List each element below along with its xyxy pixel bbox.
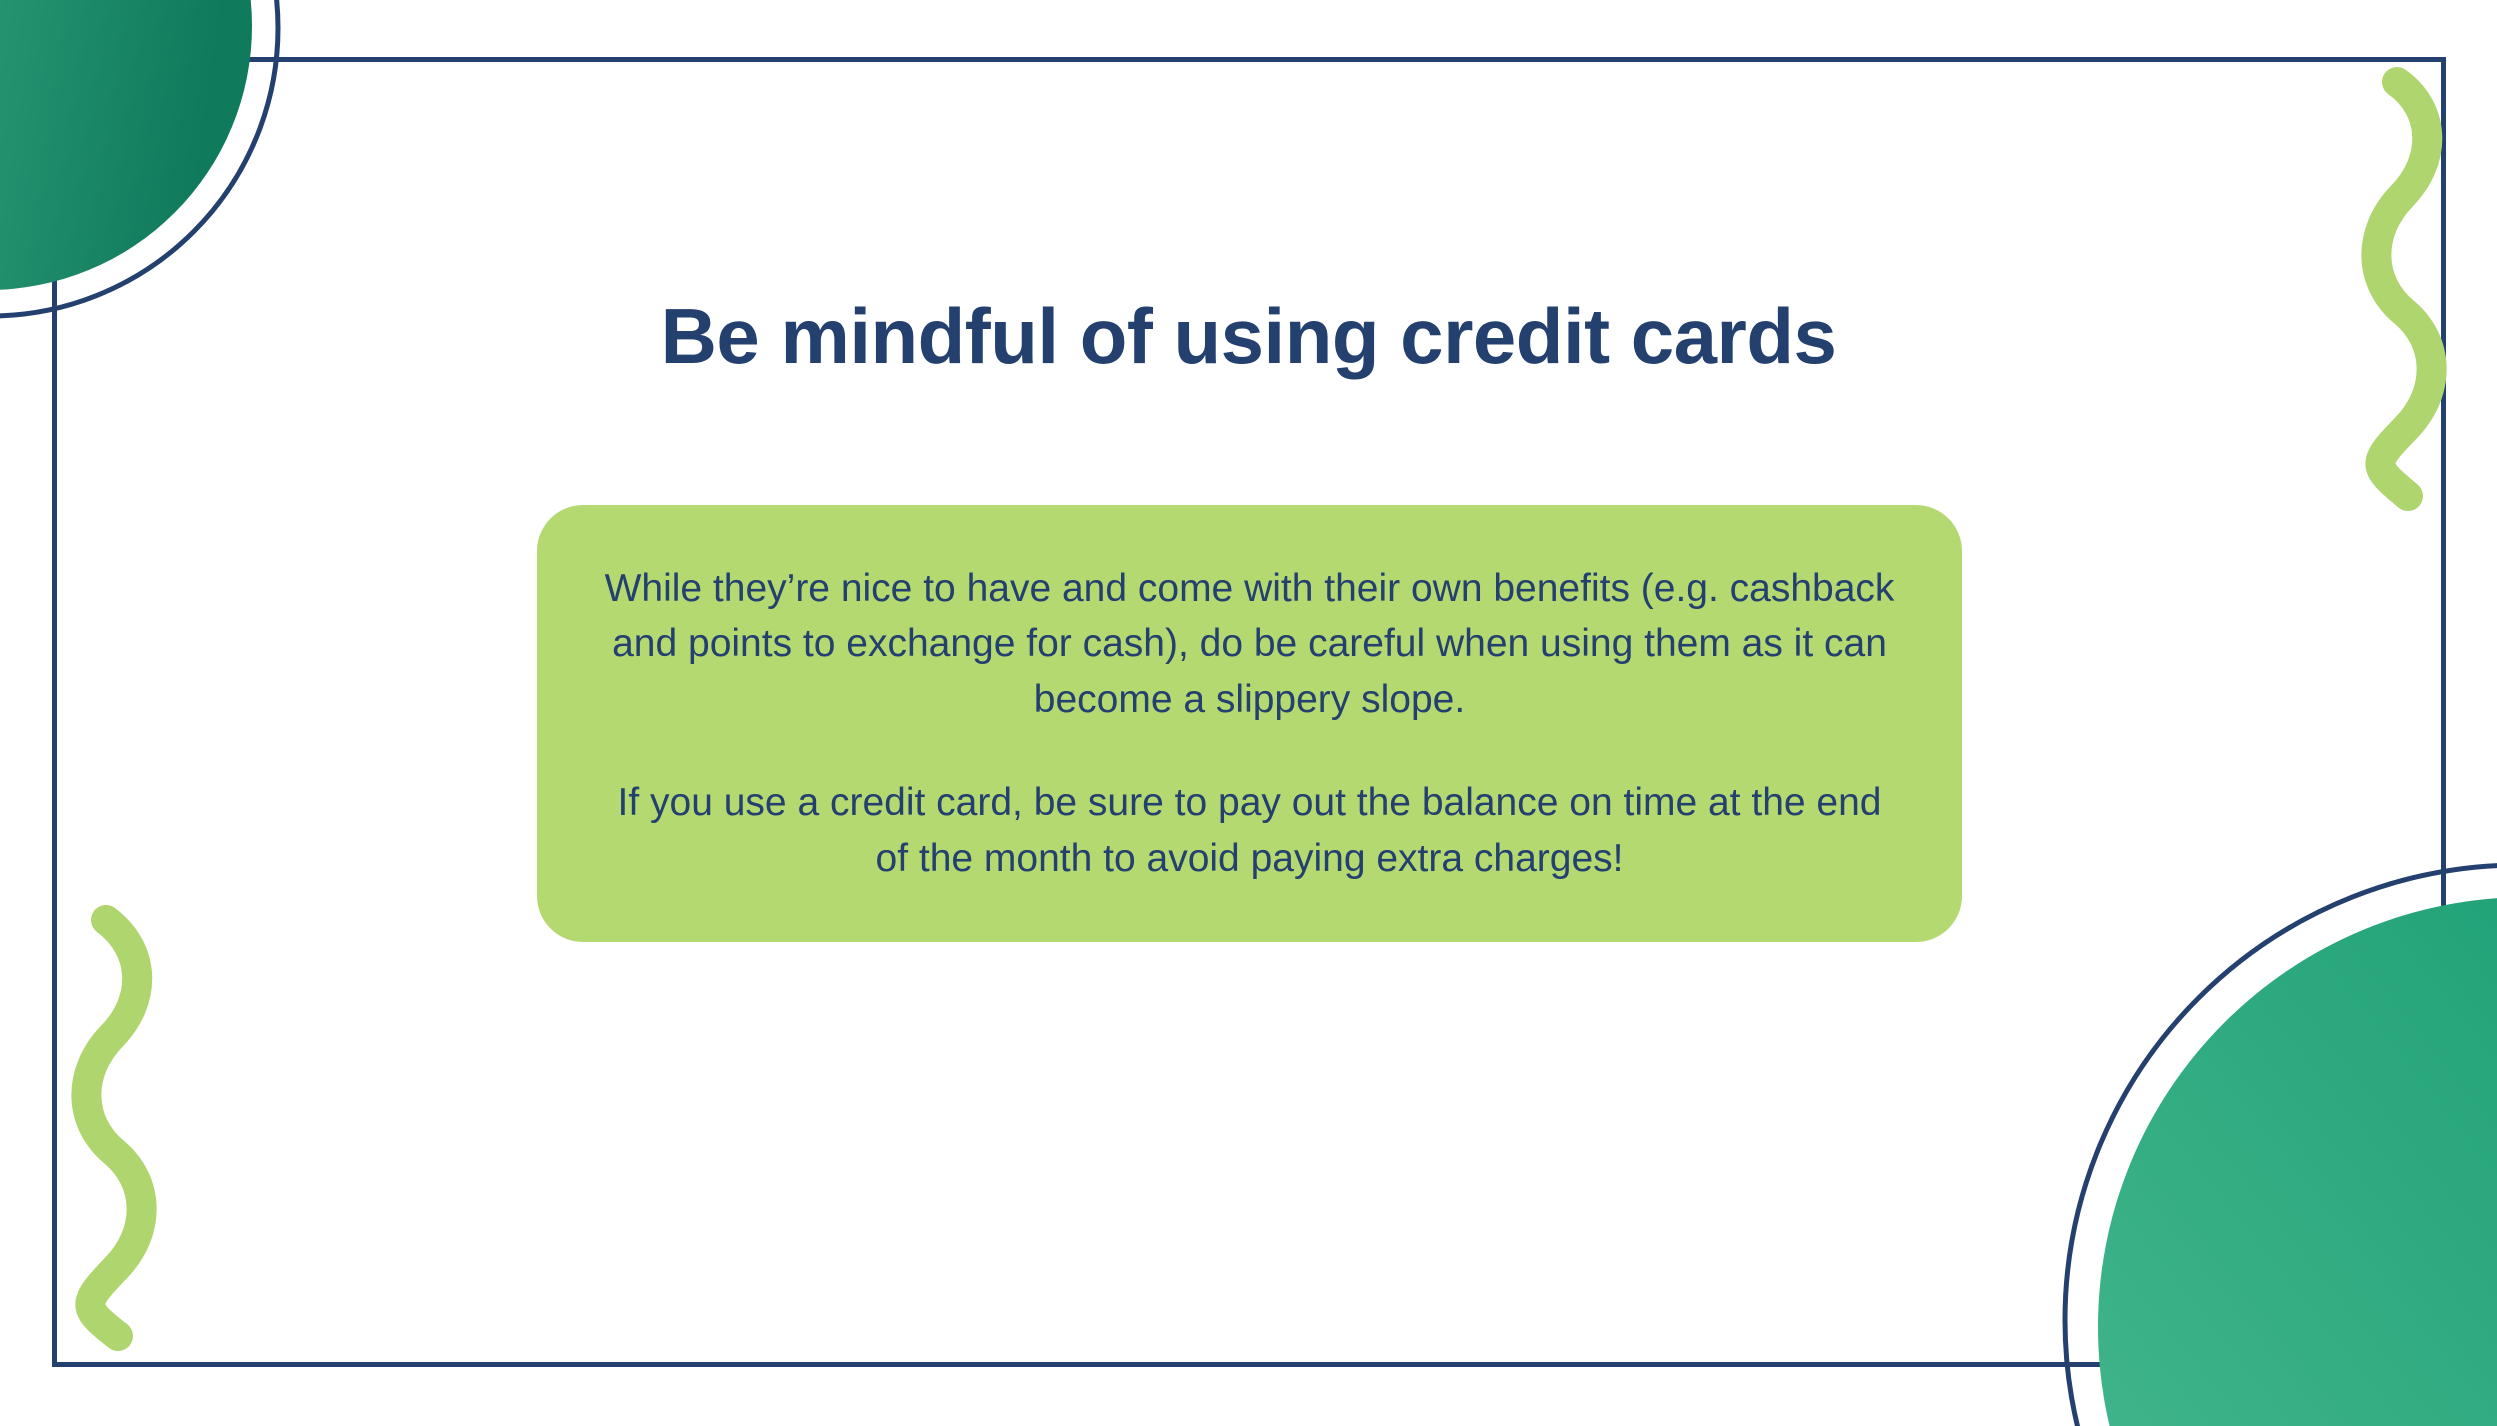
content-card: While they’re nice to have and come with… xyxy=(537,505,1962,942)
card-paragraph-spacer xyxy=(605,727,1895,775)
top-left-green-circle xyxy=(0,0,252,290)
top-left-circle-outline xyxy=(0,0,278,316)
bottom-left-squiggle xyxy=(86,920,141,1336)
slide-canvas: Be mindful of using credit cards While t… xyxy=(0,0,2497,1426)
card-paragraph-1: While they’re nice to have and come with… xyxy=(605,561,1895,727)
page-title: Be mindful of using credit cards xyxy=(0,296,2497,378)
bottom-right-circle-outline xyxy=(2065,865,2497,1426)
card-paragraph-2: If you use a credit card, be sure to pay… xyxy=(605,775,1895,886)
top-right-squiggle xyxy=(2376,82,2431,496)
bottom-right-green-circle xyxy=(2098,897,2497,1426)
content-card-body: While they’re nice to have and come with… xyxy=(605,561,1895,886)
